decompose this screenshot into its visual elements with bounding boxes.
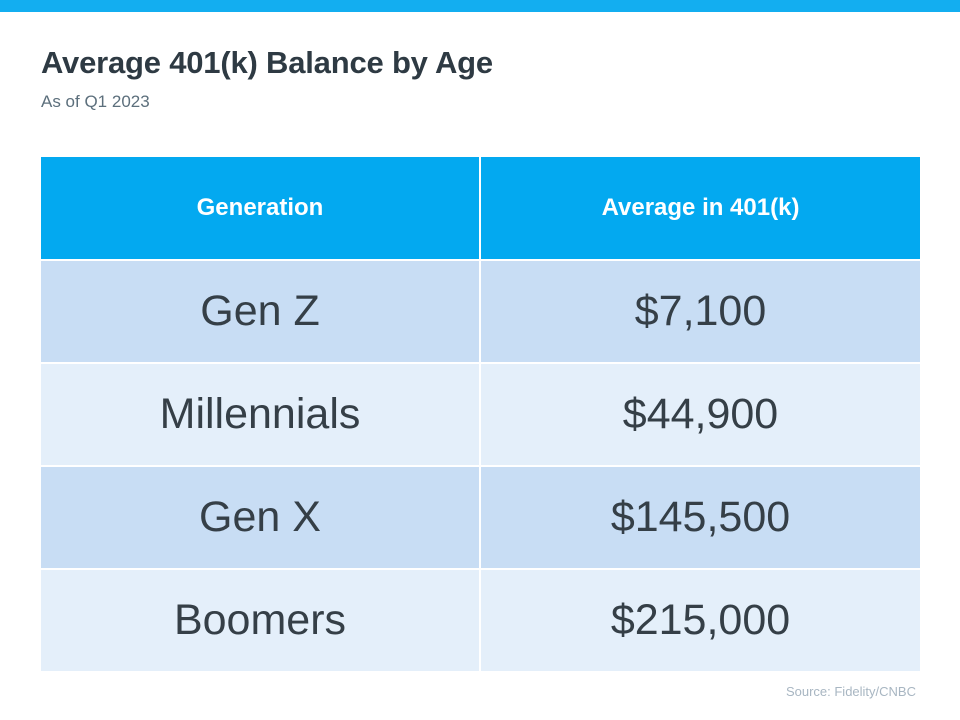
column-header-generation: Generation bbox=[41, 157, 480, 260]
cell-generation: Boomers bbox=[41, 569, 480, 671]
source-attribution: Source: Fidelity/CNBC bbox=[786, 684, 916, 699]
infographic-canvas: Average 401(k) Balance by Age As of Q1 2… bbox=[0, 0, 960, 720]
table-row: Boomers $215,000 bbox=[41, 569, 920, 671]
cell-amount: $44,900 bbox=[480, 363, 920, 466]
cell-generation: Millennials bbox=[41, 363, 480, 466]
balance-by-generation-table: Generation Average in 401(k) Gen Z $7,10… bbox=[41, 157, 920, 671]
table-row: Millennials $44,900 bbox=[41, 363, 920, 466]
column-header-average: Average in 401(k) bbox=[480, 157, 920, 260]
cell-generation: Gen X bbox=[41, 466, 480, 569]
top-accent-bar bbox=[0, 0, 960, 12]
cell-amount: $7,100 bbox=[480, 260, 920, 363]
table-row: Gen X $145,500 bbox=[41, 466, 920, 569]
table-header: Generation Average in 401(k) bbox=[41, 157, 920, 260]
heading-block: Average 401(k) Balance by Age As of Q1 2… bbox=[41, 44, 921, 113]
cell-amount: $215,000 bbox=[480, 569, 920, 671]
cell-generation: Gen Z bbox=[41, 260, 480, 363]
cell-amount: $145,500 bbox=[480, 466, 920, 569]
table-row: Gen Z $7,100 bbox=[41, 260, 920, 363]
table-body: Gen Z $7,100 Millennials $44,900 Gen X $… bbox=[41, 260, 920, 671]
page-subtitle: As of Q1 2023 bbox=[41, 91, 921, 113]
page-title: Average 401(k) Balance by Age bbox=[41, 44, 921, 82]
table-header-row: Generation Average in 401(k) bbox=[41, 157, 920, 260]
